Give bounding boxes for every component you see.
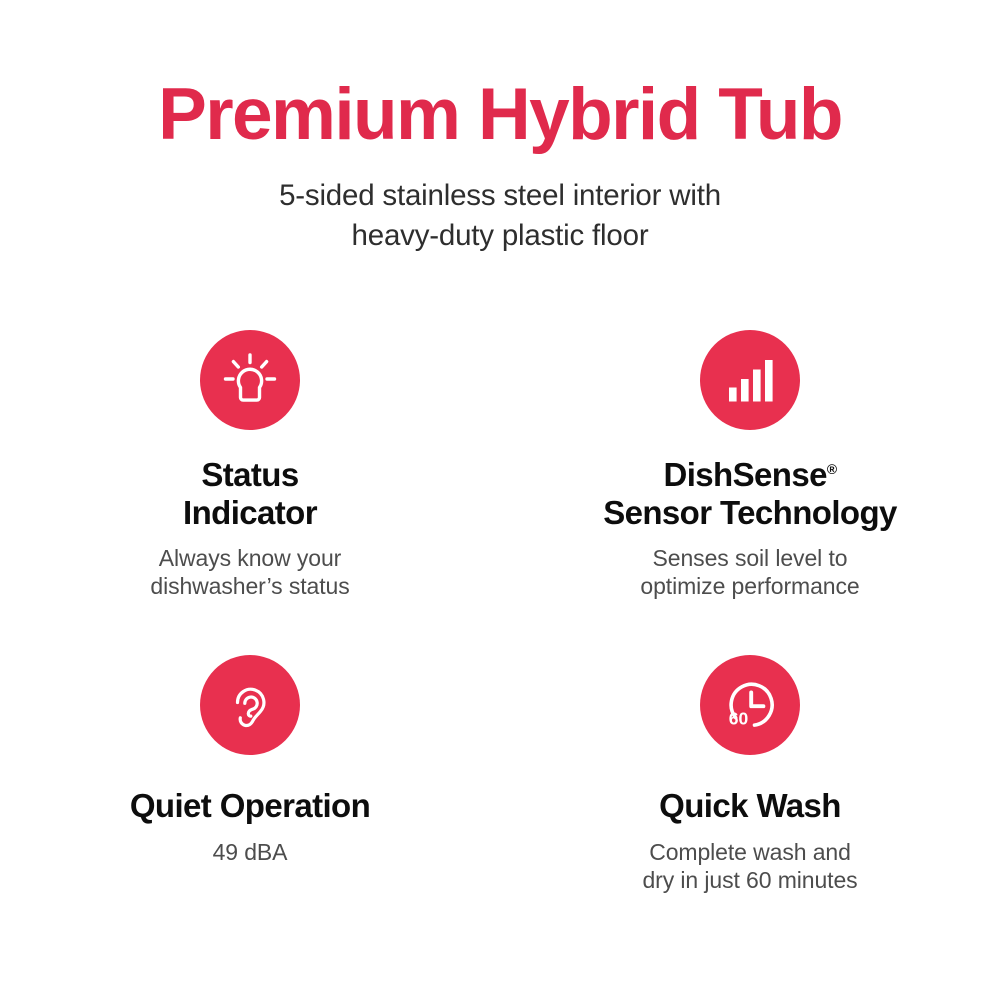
feature-title-line-1: DishSense® xyxy=(603,456,897,494)
dishsense-badge xyxy=(700,330,800,430)
header: Premium Hybrid Tub 5-sided stainless ste… xyxy=(0,0,1000,255)
feature-desc-quick-wash: Complete wash and dry in just 60 minutes xyxy=(642,838,857,894)
feature-desc-line-2: optimize performance xyxy=(640,572,859,600)
page-subtitle: 5-sided stainless steel interior with he… xyxy=(190,176,810,254)
feature-title-status-indicator: Status Indicator xyxy=(183,456,317,531)
feature-title-quick-wash: Quick Wash xyxy=(659,787,841,825)
registered-trademark-symbol: ® xyxy=(827,461,837,477)
subtitle-line-2: heavy-duty plastic floor xyxy=(190,216,810,255)
feature-grid: Status Indicator Always know your dishwa… xyxy=(0,330,1000,894)
feature-title-quiet-operation: Quiet Operation xyxy=(130,787,370,825)
quick-wash-badge: 60 xyxy=(700,655,800,755)
signal-bars-icon xyxy=(723,353,777,407)
feature-desc-line-1: Complete wash and xyxy=(642,838,857,866)
feature-title-text: DishSense xyxy=(664,456,827,493)
subtitle-line-1: 5-sided stainless steel interior with xyxy=(190,176,810,215)
feature-desc-dishsense: Senses soil level to optimize performanc… xyxy=(640,544,859,600)
feature-desc-line-2: dishwasher’s status xyxy=(150,572,349,600)
feature-desc-line-1: Always know your xyxy=(150,544,349,572)
lightbulb-icon xyxy=(219,349,281,411)
feature-title-line-1: Quiet Operation xyxy=(130,787,370,825)
feature-title-line-1: Status xyxy=(183,456,317,494)
feature-title-dishsense: DishSense® Sensor Technology xyxy=(603,456,897,531)
feature-title-line-1: Quick Wash xyxy=(659,787,841,825)
feature-card-quick-wash: 60 Quick Wash Complete wash and dry in j… xyxy=(500,655,1000,894)
feature-card-dishsense: DishSense® Sensor Technology Senses soil… xyxy=(500,330,1000,655)
feature-desc-line-1: Senses soil level to xyxy=(640,544,859,572)
ear-icon xyxy=(221,676,279,734)
feature-desc-line-2: dry in just 60 minutes xyxy=(642,866,857,894)
status-indicator-badge xyxy=(200,330,300,430)
feature-desc-status-indicator: Always know your dishwasher’s status xyxy=(150,544,349,600)
feature-title-line-2: Indicator xyxy=(183,494,317,532)
feature-card-quiet-operation: Quiet Operation 49 dBA xyxy=(0,655,500,894)
quiet-operation-badge xyxy=(200,655,300,755)
page-title: Premium Hybrid Tub xyxy=(0,78,1000,152)
feature-desc-quiet-operation: 49 dBA xyxy=(213,838,288,866)
clock-60-icon: 60 xyxy=(718,673,782,737)
feature-card-status-indicator: Status Indicator Always know your dishwa… xyxy=(0,330,500,655)
infographic-page: Premium Hybrid Tub 5-sided stainless ste… xyxy=(0,0,1000,1000)
clock-minutes-label: 60 xyxy=(729,709,749,729)
feature-desc-line-1: 49 dBA xyxy=(213,838,288,866)
feature-title-line-2: Sensor Technology xyxy=(603,494,897,532)
